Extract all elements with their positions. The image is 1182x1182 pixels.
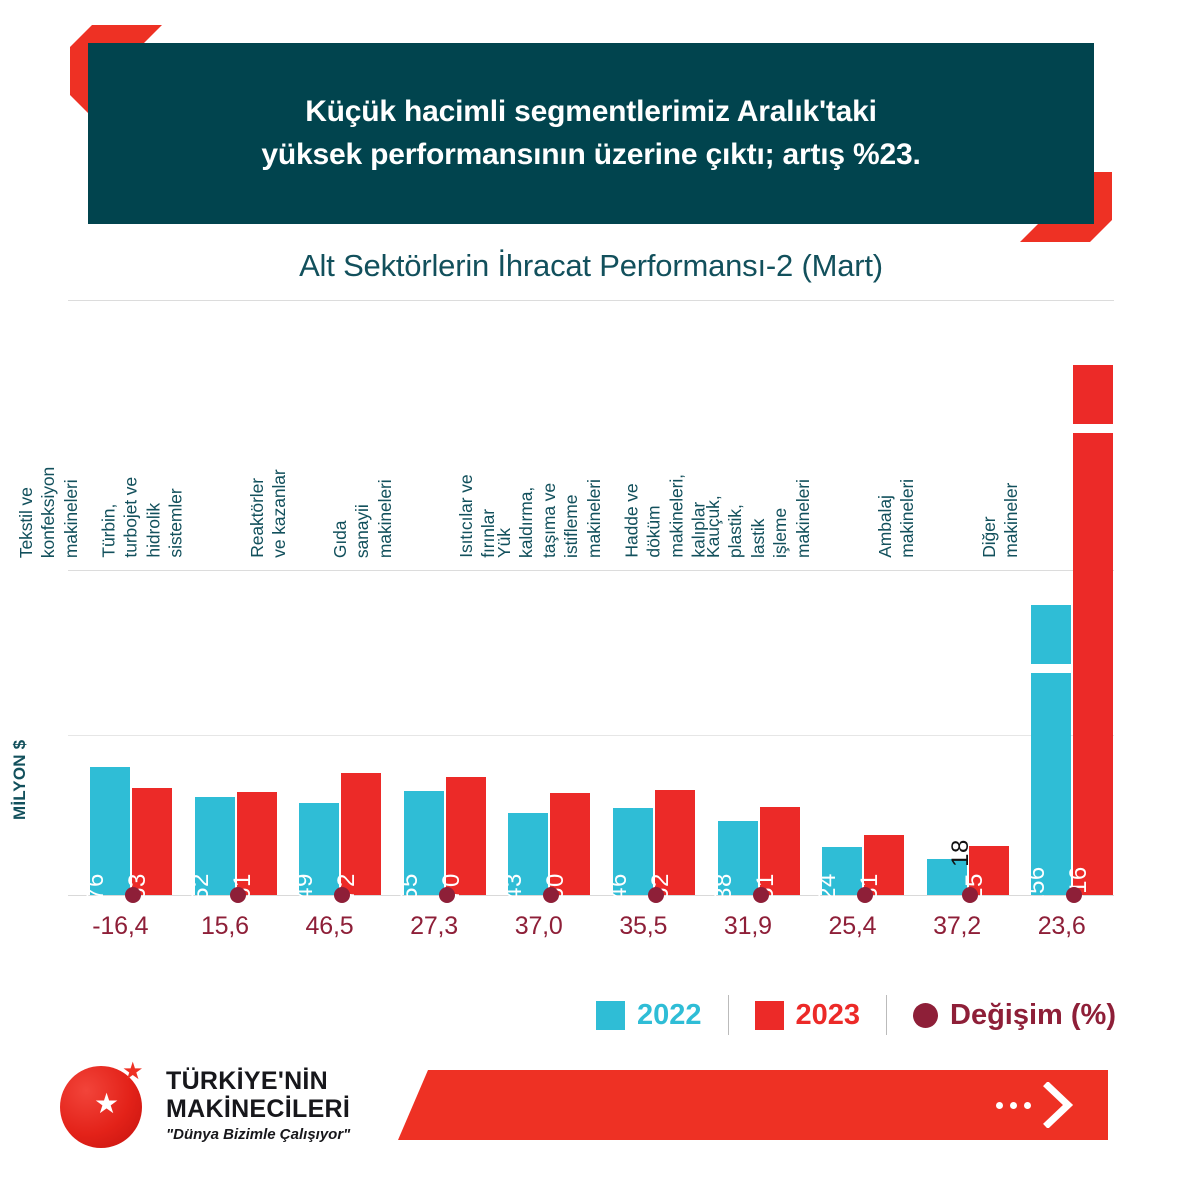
bar-chart: Tekstil ve konfeksiyon makineleriTürbin,… bbox=[68, 300, 1114, 960]
bar-2023[interactable]: 51 bbox=[760, 807, 800, 895]
header-banner: Küçük hacimli segmentlerimiz Aralık'taki… bbox=[88, 43, 1094, 224]
axis-break-gap bbox=[1073, 424, 1113, 433]
change-percent-label: 31,9 bbox=[696, 912, 801, 941]
legend-item-change[interactable]: Değişim (%) bbox=[887, 999, 1142, 1032]
bar-value-label: 38 bbox=[710, 873, 738, 901]
bar-value-label: 52 bbox=[187, 873, 215, 901]
y-axis-title: MİLYON $ bbox=[10, 740, 30, 820]
bar-2023[interactable]: 61 bbox=[237, 792, 277, 895]
arrow-dot-icon bbox=[1010, 1102, 1017, 1109]
change-percent-label: 25,4 bbox=[800, 912, 905, 941]
legend-item-2022[interactable]: 2022 bbox=[570, 999, 728, 1032]
bar-value-label: 76 bbox=[82, 873, 110, 901]
legend-swatch-2022-icon bbox=[596, 1001, 625, 1030]
change-marker-dot bbox=[962, 887, 978, 903]
legend-label-change: Değişim (%) bbox=[950, 999, 1116, 1032]
change-percent-label: 46,5 bbox=[277, 912, 382, 941]
bar-value-label: 24 bbox=[814, 873, 842, 901]
legend-label-2022: 2022 bbox=[637, 999, 702, 1032]
change-marker-dot bbox=[230, 887, 246, 903]
change-marker-dot bbox=[753, 887, 769, 903]
change-percent-label: -16,4 bbox=[68, 912, 173, 941]
logo-mark-icon: ★ ★ bbox=[60, 1060, 150, 1150]
bar-2023[interactable]: 72 bbox=[341, 773, 381, 895]
next-arrow-icon bbox=[996, 1082, 1076, 1128]
bar-value-label: 49 bbox=[291, 873, 319, 901]
bar-group: 4360 bbox=[486, 300, 591, 896]
bar-2023[interactable]: 316 bbox=[1073, 365, 1113, 895]
change-marker-dot bbox=[439, 887, 455, 903]
logo-slogan: "Dünya Bizimle Çalışıyor" bbox=[166, 1126, 350, 1143]
legend-label-2023: 2023 bbox=[796, 999, 861, 1032]
bar-group: 4972 bbox=[277, 300, 382, 896]
bar-group: 2431 bbox=[800, 300, 905, 896]
bar-group: 7663 bbox=[68, 300, 173, 896]
change-marker-dot bbox=[648, 887, 664, 903]
bar-value-label: 256 bbox=[1023, 866, 1051, 908]
bar-groups: 7663526149725570436046623851243118252563… bbox=[68, 300, 1114, 896]
chevron-right-icon bbox=[1042, 1082, 1076, 1128]
arrow-dot-icon bbox=[996, 1102, 1003, 1109]
bar-2023[interactable]: 70 bbox=[446, 777, 486, 895]
bar-group: 5261 bbox=[173, 300, 278, 896]
change-percent-label: 37,0 bbox=[486, 912, 591, 941]
header-box: Küçük hacimli segmentlerimiz Aralık'taki… bbox=[88, 43, 1094, 224]
bar-group: 256316 bbox=[1009, 300, 1114, 896]
bar-2023[interactable]: 31 bbox=[864, 835, 904, 895]
chart-legend: 2022 2023 Değişim (%) bbox=[0, 995, 1142, 1035]
legend-dot-change-icon bbox=[913, 1003, 938, 1028]
chart-title: Alt Sektörlerin İhracat Performansı-2 (M… bbox=[0, 248, 1182, 284]
bar-group: 1825 bbox=[905, 300, 1010, 896]
logo-line-2: MAKİNECİLERİ bbox=[166, 1095, 350, 1123]
change-marker-dot bbox=[125, 887, 141, 903]
footer: ★ ★ TÜRKİYE'NİN MAKİNECİLERİ "Dünya Bizi… bbox=[0, 1060, 1182, 1182]
legend-item-2023[interactable]: 2023 bbox=[729, 999, 887, 1032]
bar-group: 3851 bbox=[696, 300, 801, 896]
change-percent-label: 23,6 bbox=[1009, 912, 1114, 941]
logo-star-small-icon: ★ bbox=[122, 1060, 144, 1084]
arrow-dot-icon bbox=[1024, 1102, 1031, 1109]
header-headline: Küçük hacimli segmentlerimiz Aralık'taki… bbox=[221, 91, 960, 176]
bar-2022[interactable]: 256 bbox=[1031, 605, 1071, 895]
change-percent-label: 27,3 bbox=[382, 912, 487, 941]
change-percent-row: -16,415,646,527,337,035,531,925,437,223,… bbox=[68, 912, 1114, 941]
legend-swatch-2023-icon bbox=[755, 1001, 784, 1030]
bar-group: 4662 bbox=[591, 300, 696, 896]
change-percent-label: 15,6 bbox=[173, 912, 278, 941]
bar-group: 5570 bbox=[382, 300, 487, 896]
logo-text: TÜRKİYE'NİN MAKİNECİLERİ "Dünya Bizimle … bbox=[166, 1067, 350, 1143]
axis-break-gap bbox=[1031, 664, 1071, 673]
bar-2023[interactable]: 62 bbox=[655, 790, 695, 895]
bar-value-label: 46 bbox=[605, 873, 633, 901]
bar-value-label: 55 bbox=[396, 873, 424, 901]
change-percent-label: 37,2 bbox=[905, 912, 1010, 941]
bar-value-label: 43 bbox=[500, 873, 528, 901]
bar-2023[interactable]: 63 bbox=[132, 788, 172, 895]
bar-2023[interactable]: 60 bbox=[550, 793, 590, 895]
logo-line-1: TÜRKİYE'NİN bbox=[166, 1067, 350, 1095]
logo-star-large-icon: ★ bbox=[94, 1090, 119, 1118]
next-page-banner[interactable] bbox=[398, 1070, 1108, 1140]
brand-logo[interactable]: ★ ★ TÜRKİYE'NİN MAKİNECİLERİ "Dünya Bizi… bbox=[60, 1060, 350, 1150]
change-percent-label: 35,5 bbox=[591, 912, 696, 941]
